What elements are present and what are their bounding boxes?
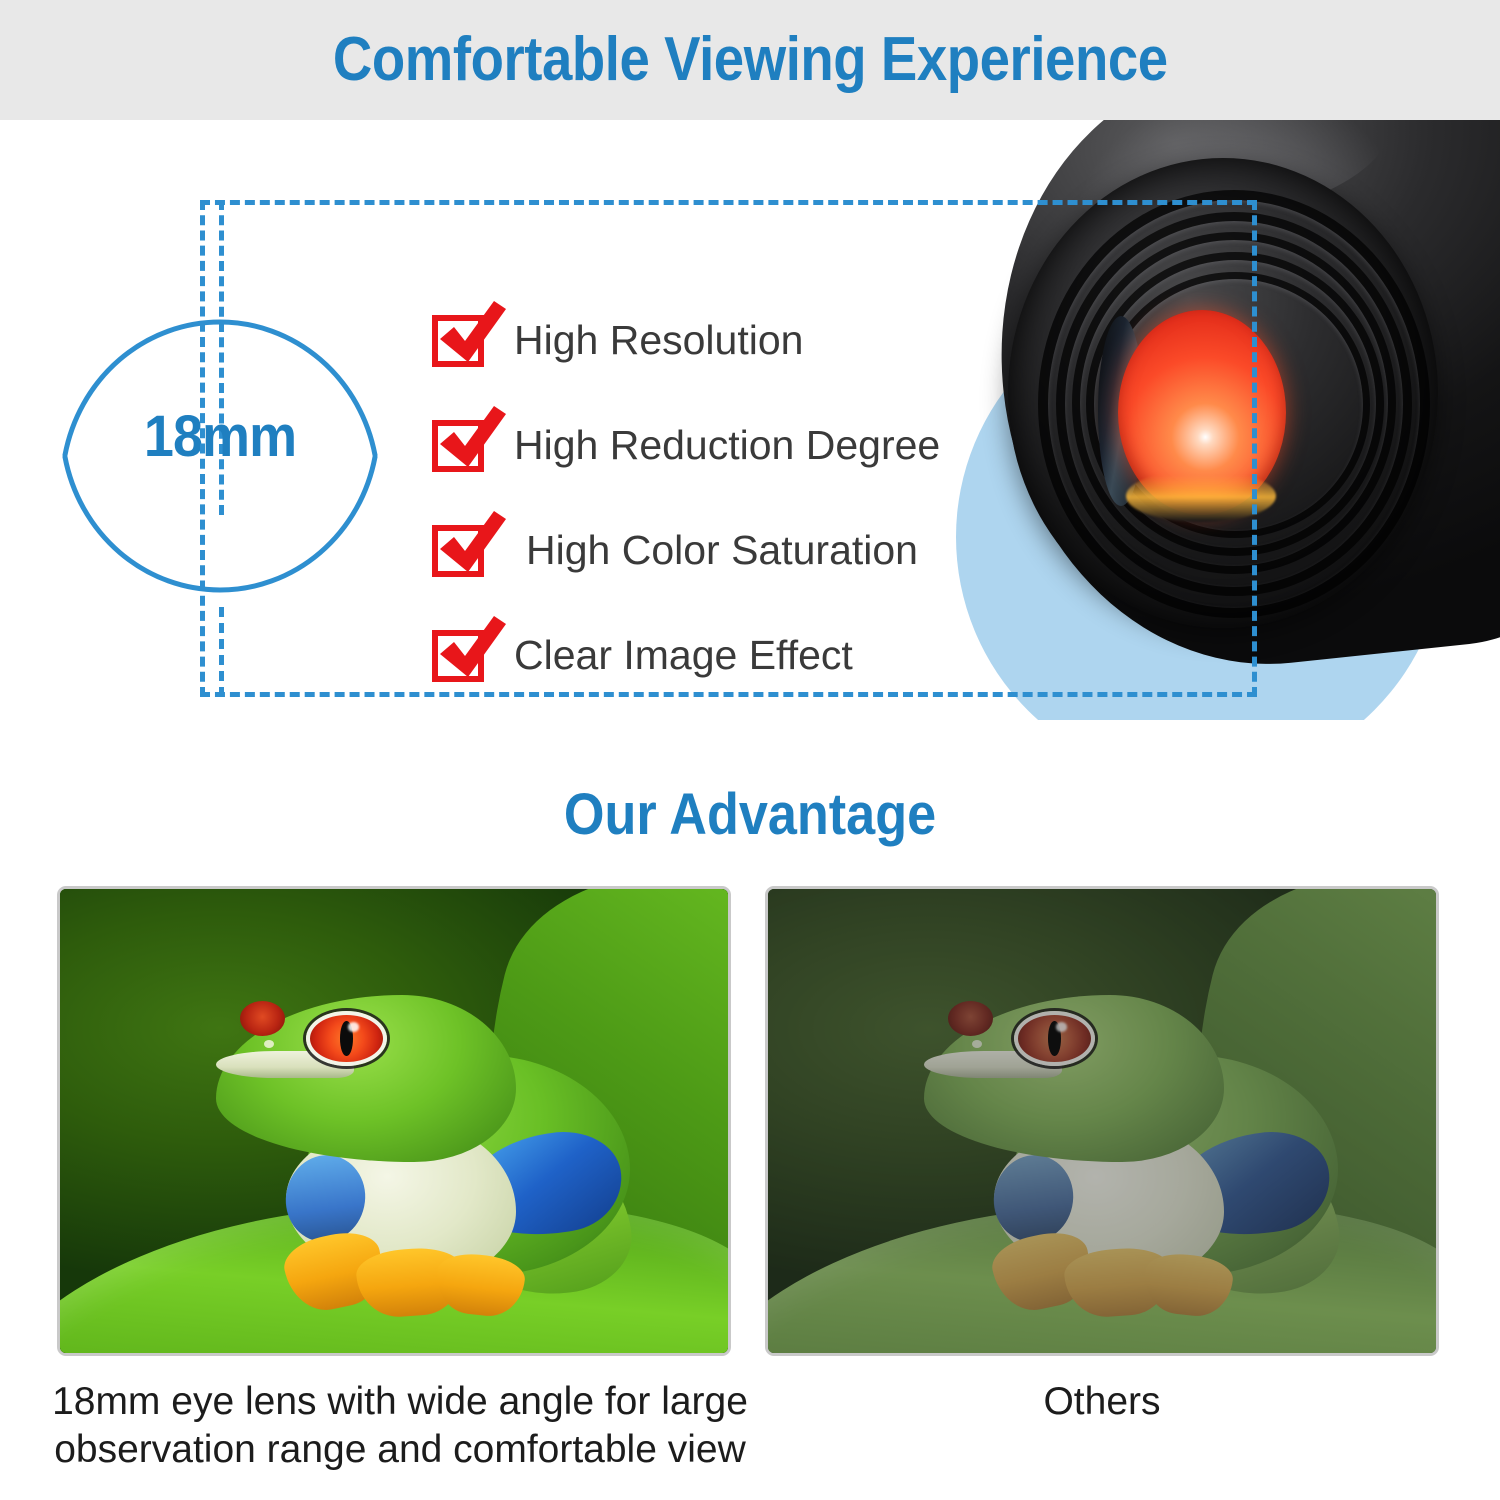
feature-checklist: High Resolution High Reduction Degree Hi… <box>432 288 952 708</box>
feature-label: High Color Saturation <box>526 530 918 571</box>
feature-item-high-color-saturation: High Color Saturation <box>432 498 952 603</box>
frog-scene <box>60 889 728 1353</box>
comparison-photo-ours <box>57 886 731 1356</box>
page-title: Comfortable Viewing Experience <box>333 29 1168 91</box>
dimension-label: 18mm <box>67 403 374 470</box>
frog-eye-glint <box>1056 1022 1068 1032</box>
feature-item-high-resolution: High Resolution <box>432 288 952 393</box>
frog-head <box>216 995 516 1162</box>
feature-item-high-reduction-degree: High Reduction Degree <box>432 393 952 498</box>
frog-eye-glint <box>348 1022 360 1032</box>
lens-rim-bottom-flare <box>1126 470 1276 522</box>
feature-item-clear-image-effect: Clear Image Effect <box>432 603 952 708</box>
comparison-photo-others <box>765 886 1439 1356</box>
caption-ours: 18mm eye lens with wide angle for large … <box>50 1378 750 1473</box>
tree-frog <box>207 968 648 1302</box>
frog-eye-far <box>948 1001 993 1036</box>
frog-eye <box>1014 1011 1095 1066</box>
check-icon <box>432 525 484 577</box>
feature-section: 18mm High Resolution High Reduction Degr… <box>0 120 1500 760</box>
frog-nostril <box>972 1040 982 1048</box>
frog-eye <box>306 1011 387 1066</box>
advantage-title: Our Advantage <box>75 786 1425 844</box>
feature-label: Clear Image Effect <box>514 635 853 676</box>
check-icon <box>432 630 484 682</box>
frog-scene <box>768 889 1436 1353</box>
check-icon <box>432 420 484 472</box>
frog-nostril <box>264 1040 274 1048</box>
lens-diameter-diagram: 18mm <box>55 285 385 625</box>
header-banner: Comfortable Viewing Experience <box>0 0 1500 120</box>
check-icon <box>432 315 484 367</box>
feature-label: High Resolution <box>514 320 803 361</box>
frog-head <box>924 995 1224 1162</box>
monocular-eyepiece-photo <box>920 120 1500 720</box>
frog-eye-far <box>240 1001 285 1036</box>
feature-label: High Reduction Degree <box>514 425 940 466</box>
tree-frog <box>915 968 1356 1302</box>
caption-others: Others <box>765 1378 1439 1426</box>
